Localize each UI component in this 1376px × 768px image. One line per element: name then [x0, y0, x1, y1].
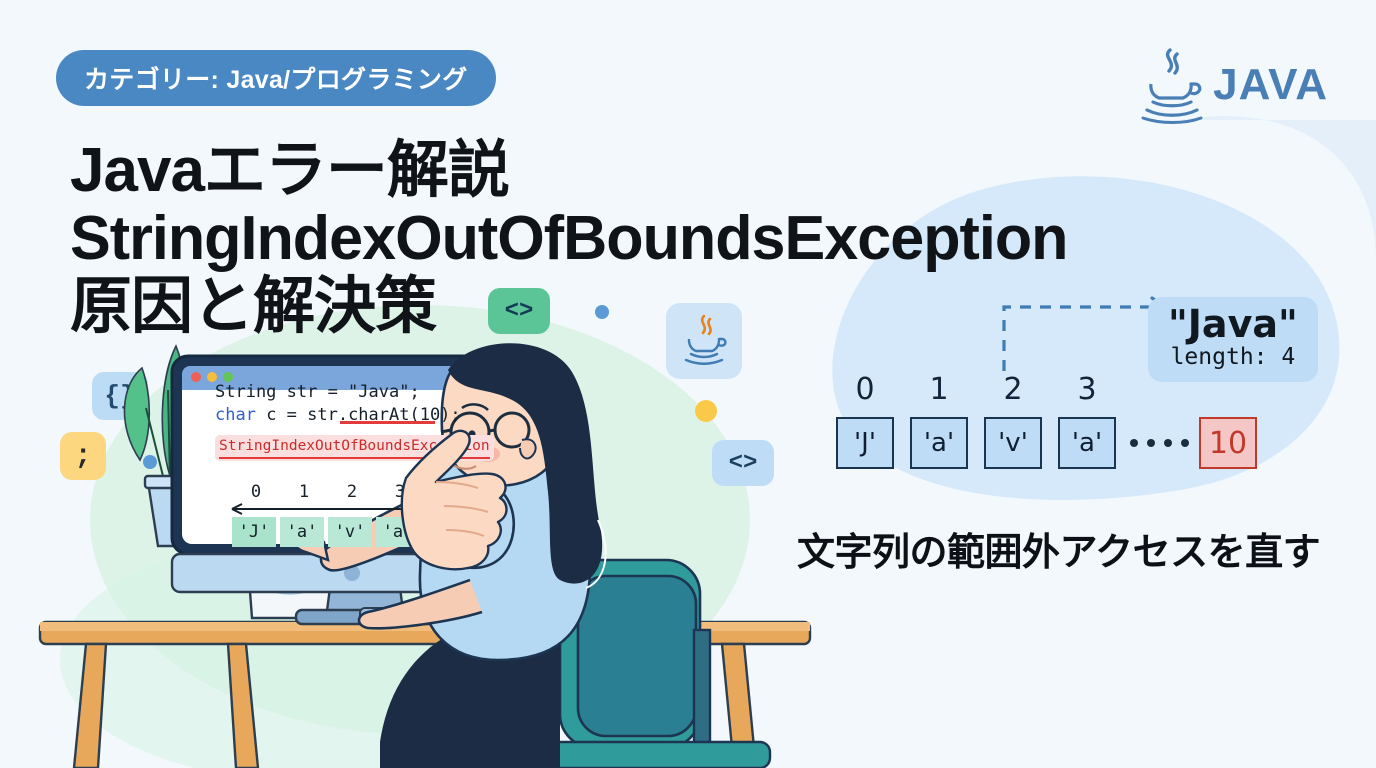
hero-banner: カテゴリー: Java/プログラミング JAVA Javaエラー解説 Strin…	[0, 0, 1376, 768]
code-line-1: String str = "Java";	[215, 381, 505, 404]
monitor-char-2: 'v'	[328, 517, 372, 547]
diagram-char-1: 'a'	[910, 417, 968, 469]
diagram-index-1: 1	[929, 375, 948, 405]
category-badge: カテゴリー: Java/プログラミング	[56, 50, 496, 106]
monitor-index-0: 0	[232, 482, 280, 502]
category-badge-label: カテゴリー: Java/プログラミング	[84, 60, 468, 96]
code-keyword-char: char	[215, 405, 256, 425]
monitor-char-1: 'a'	[280, 517, 324, 547]
java-brand: JAVA	[1137, 44, 1328, 126]
monitor-index-1: 1	[280, 482, 328, 502]
diagram-char-0: 'J'	[836, 417, 894, 469]
diagram-cell-1: 1 'a'	[902, 375, 976, 469]
diagram-index-3: 3	[1077, 375, 1096, 405]
caption-text: 文字列の範囲外アクセスを直す	[797, 521, 1320, 576]
title-line-2: StringIndexOutOfBoundsException	[70, 208, 1099, 270]
diagram-char-2: 'v'	[984, 417, 1042, 469]
string-length-label: "Java" length: 4	[1148, 297, 1318, 382]
diagram-cell-3: 3 'a'	[1050, 375, 1124, 469]
out-of-range-index-box: 10	[1199, 417, 1257, 469]
pointing-hand-icon	[392, 420, 522, 610]
page-title: Javaエラー解説 StringIndexOutOfBoundsExceptio…	[70, 140, 1115, 338]
diagram-char-3: 'a'	[1058, 417, 1116, 469]
title-line-3: 原因と解決策	[70, 276, 1115, 338]
diagram-index-2: 2	[1003, 375, 1022, 405]
brand-label: JAVA	[1213, 63, 1328, 107]
ellipsis-dots	[1130, 417, 1189, 469]
diagram-cell-2: 2 'v'	[976, 375, 1050, 469]
monitor-index-2: 2	[328, 482, 376, 502]
diagram-index-0: 0	[855, 375, 874, 405]
diagram-index-row: 0 'J' 1 'a' 2 'v' 3 'a' 10	[828, 375, 1257, 469]
title-line-1: Javaエラー解説	[70, 140, 1115, 202]
string-value: "Java"	[1168, 305, 1298, 345]
diagram-cell-0: 0 'J'	[828, 375, 902, 469]
java-coffee-cup-icon	[1137, 44, 1203, 126]
string-length: length: 4	[1168, 345, 1298, 370]
monitor-char-0: 'J'	[232, 517, 276, 547]
